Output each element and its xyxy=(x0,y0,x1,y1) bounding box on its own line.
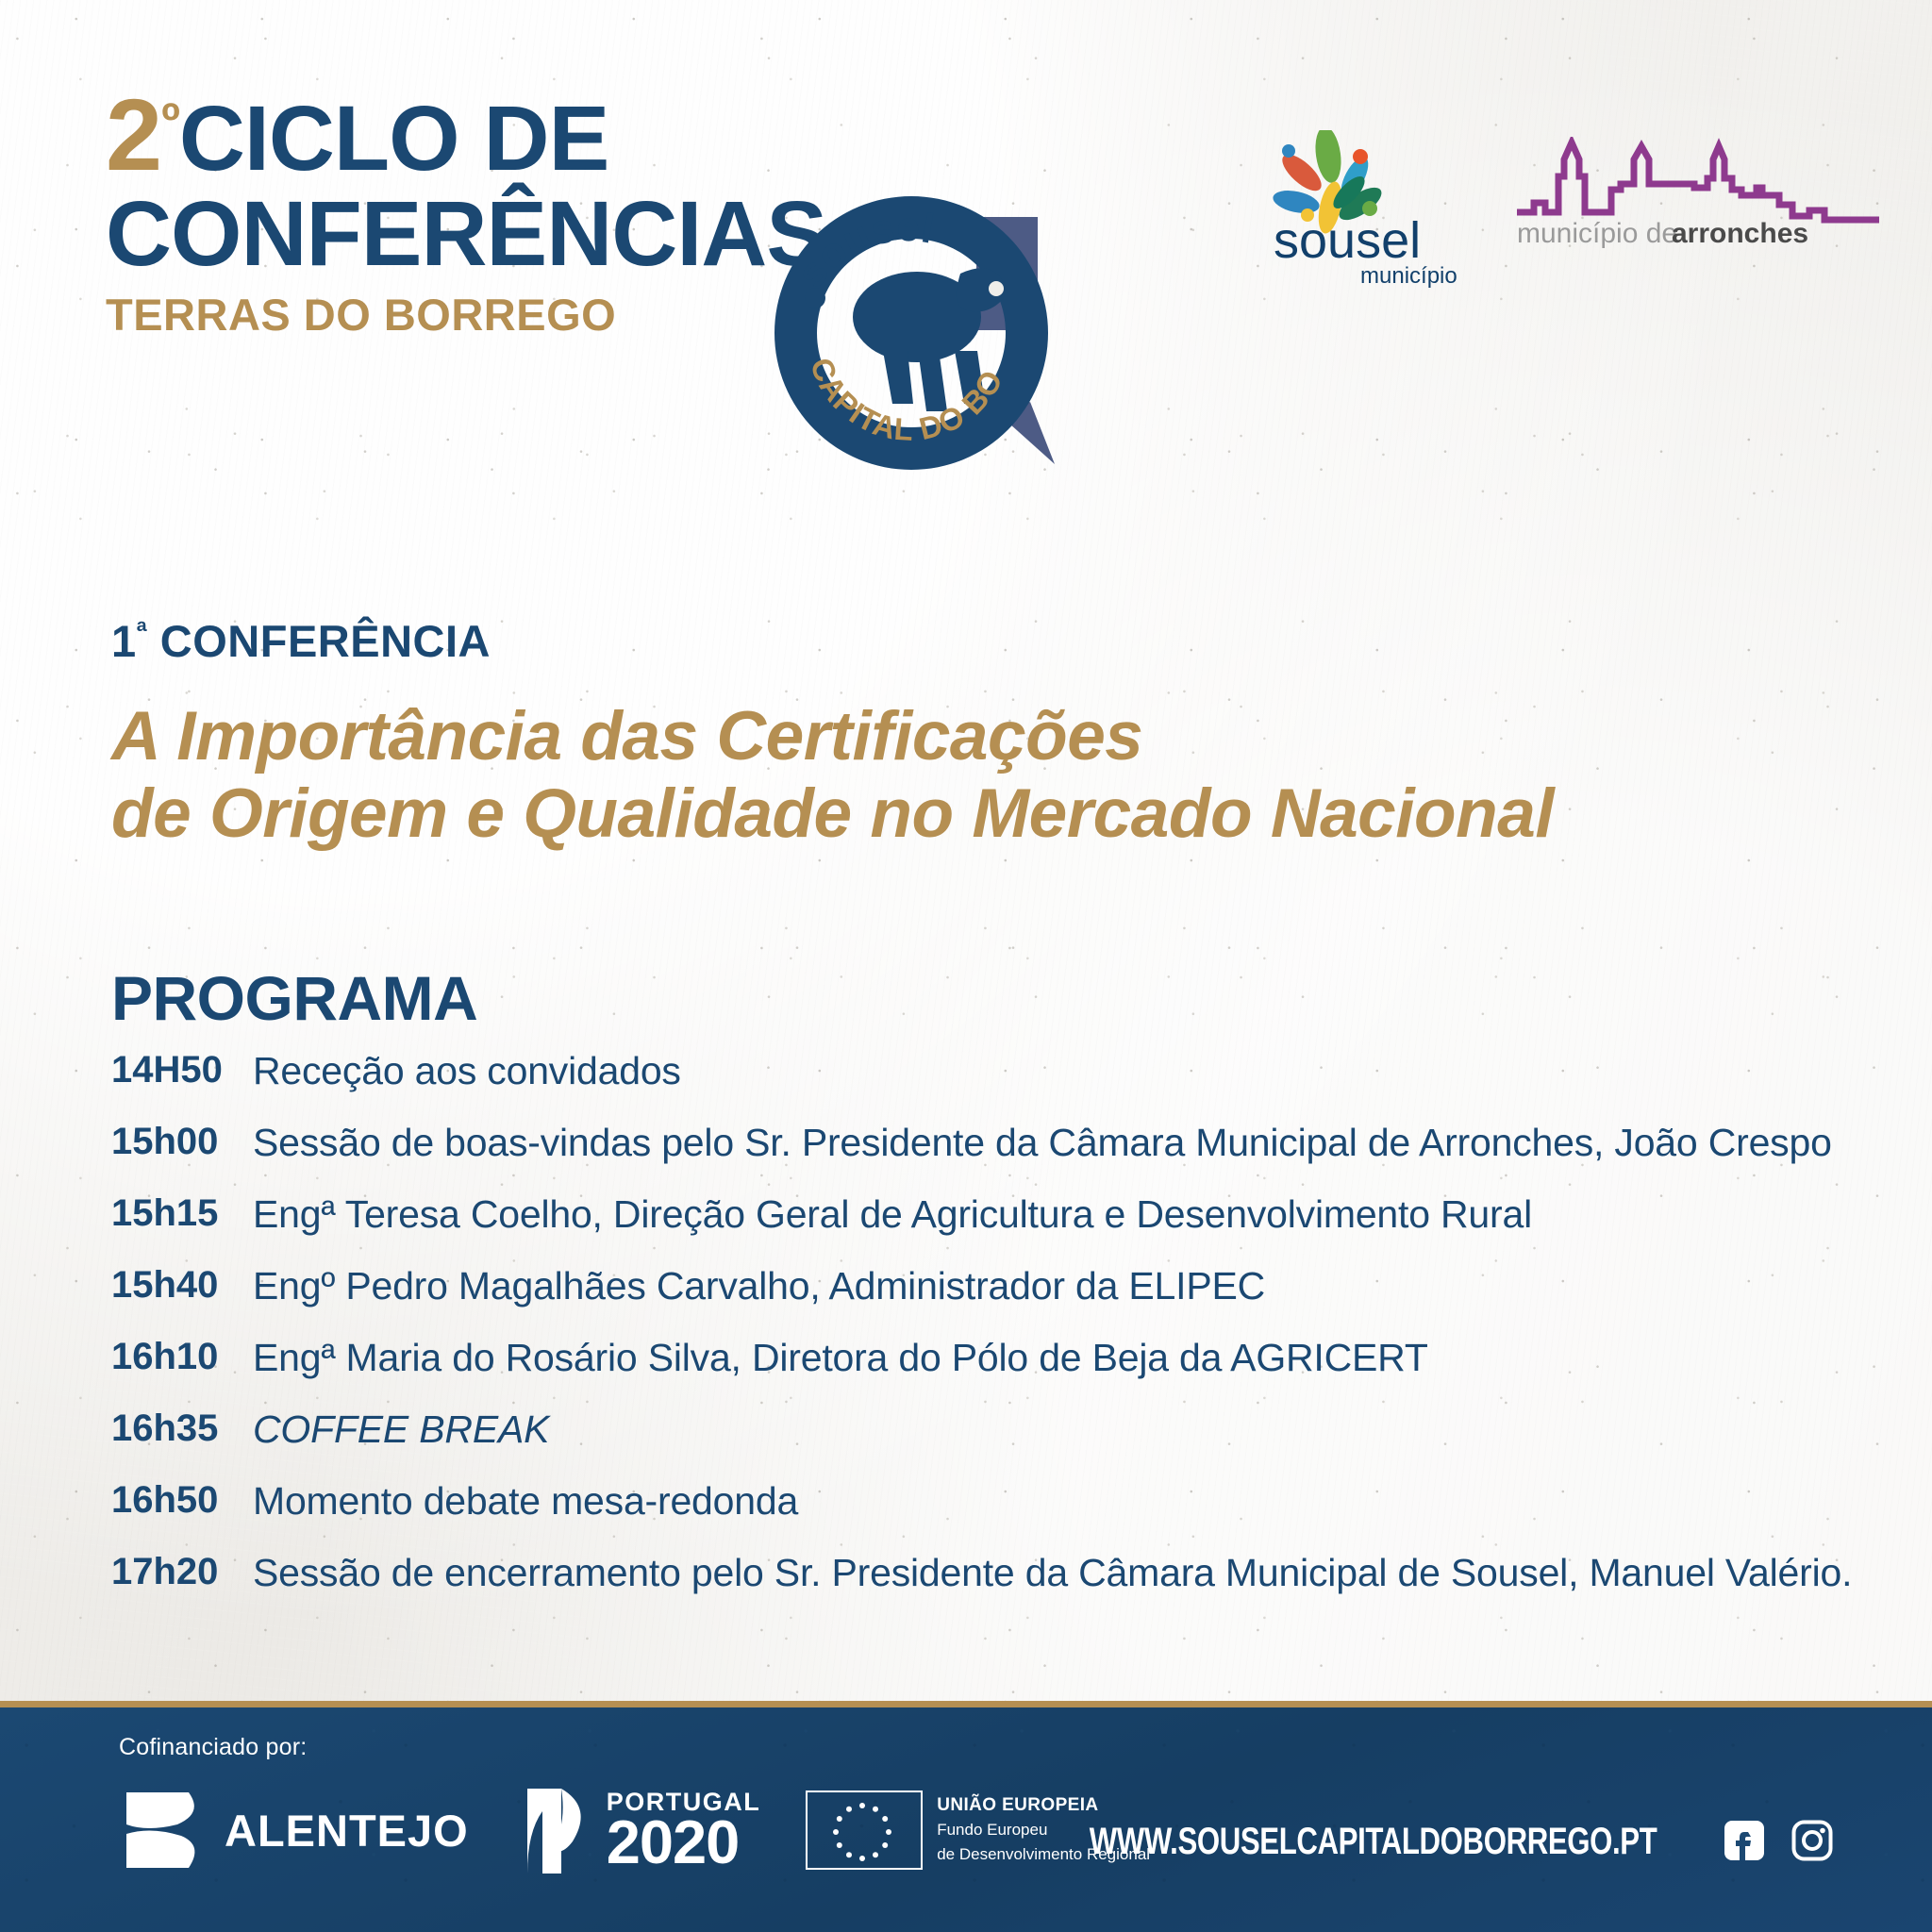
programme-description: Engº Pedro Magalhães Carvalho, Administr… xyxy=(253,1262,1265,1309)
poster-canvas: 2ºCICLO DE CONFERÊNCIAS TERRAS DO BORREG… xyxy=(0,0,1932,1932)
programme-row: 16h50 Momento debate mesa-redonda xyxy=(111,1477,1857,1524)
alentejo-label: ALENTEJO xyxy=(225,1805,469,1857)
programme-time: 15h00 xyxy=(111,1119,253,1163)
edition-ordinal: º xyxy=(161,93,179,150)
sousel-logo-name: sousel xyxy=(1274,212,1421,269)
social-links xyxy=(1723,1819,1834,1862)
programme-time: 17h20 xyxy=(111,1549,253,1593)
programme-description: Engª Maria do Rosário Silva, Diretora do… xyxy=(253,1334,1428,1381)
alentejo-logo: ALENTEJO xyxy=(119,1785,469,1875)
programme-row: 16h35 COFFEE BREAK xyxy=(111,1406,1857,1453)
programme-description: Receção aos convidados xyxy=(253,1047,681,1094)
conference-number: 1 xyxy=(111,616,137,666)
programme-description: Engª Teresa Coelho, Direção Geral de Agr… xyxy=(253,1191,1532,1238)
sousel-logo-sub: município xyxy=(1360,263,1457,289)
programme-heading: PROGRAMA xyxy=(111,962,477,1034)
arronches-skyline-icon xyxy=(1517,142,1879,220)
programme-row: 15h40 Engº Pedro Magalhães Carvalho, Adm… xyxy=(111,1262,1857,1309)
website-url[interactable]: WWW.SOUSELCAPITALDOBORREGO.PT xyxy=(1089,1821,1657,1863)
instagram-icon[interactable] xyxy=(1790,1819,1834,1862)
gold-divider xyxy=(0,1701,1932,1707)
programme-row: 14H50 Receção aos convidados xyxy=(111,1047,1857,1094)
facebook-icon[interactable] xyxy=(1723,1819,1766,1862)
programme-description: Sessão de encerramento pelo Sr. Presiden… xyxy=(253,1549,1852,1596)
eu-title: UNIÃO EUROPEIA xyxy=(937,1795,1150,1816)
programme-time: 14H50 xyxy=(111,1047,253,1091)
conference-number-label: 1ª CONFERÊNCIA xyxy=(111,615,491,667)
alentejo-mark-icon xyxy=(119,1785,209,1875)
portugal-2020-big: 2020 xyxy=(607,1814,761,1871)
programme-time: 16h10 xyxy=(111,1334,253,1378)
conference-ordinal: ª xyxy=(137,616,148,647)
programme-row: 15h15 Engª Teresa Coelho, Direção Geral … xyxy=(111,1191,1857,1238)
conference-title-line-1: A Importância das Certificações xyxy=(111,698,1847,775)
portugal-2020-mark-icon xyxy=(514,1783,597,1877)
programme-time: 15h40 xyxy=(111,1262,253,1307)
edition-number: 2 xyxy=(106,77,161,192)
title-line-1-text: CICLO DE xyxy=(179,87,608,190)
cofinanced-label: Cofinanciado por: xyxy=(119,1734,307,1761)
programme-list: 14H50 Receção aos convidados 15h00 Sessã… xyxy=(111,1047,1857,1621)
funding-logos: ALENTEJO PORTUGAL 2020 xyxy=(119,1783,1150,1877)
portugal-2020-logo: PORTUGAL 2020 xyxy=(514,1783,761,1877)
arronches-prefix: município de xyxy=(1517,218,1677,249)
eu-flag-icon xyxy=(806,1790,923,1870)
programme-time: 15h15 xyxy=(111,1191,253,1235)
programme-time: 16h50 xyxy=(111,1477,253,1522)
conference-word: CONFERÊNCIA xyxy=(147,616,491,666)
programme-description: Sessão de boas-vindas pelo Sr. President… xyxy=(253,1119,1832,1166)
conference-title-line-2: de Origem e Qualidade no Mercado Naciona… xyxy=(111,775,1847,853)
sousel-municipio-logo: sousel município xyxy=(1255,130,1481,291)
arronches-name: arronches xyxy=(1672,218,1808,249)
footer-band: Cofinanciado por: ALENTEJO PORTUGAL 2020 xyxy=(0,1707,1932,1932)
programme-description: Momento debate mesa-redonda xyxy=(253,1477,798,1524)
conference-title: A Importância das Certificações de Orige… xyxy=(111,698,1847,853)
sousel-capital-do-borrego-logo: sousel CAPITAL DO BORREGO xyxy=(717,132,1094,491)
programme-row: 15h00 Sessão de boas-vindas pelo Sr. Pre… xyxy=(111,1119,1857,1166)
programme-description: COFFEE BREAK xyxy=(253,1406,549,1453)
arronches-municipio-logo: município de arronches xyxy=(1509,137,1887,255)
programme-row: 16h10 Engª Maria do Rosário Silva, Diret… xyxy=(111,1334,1857,1381)
programme-time: 16h35 xyxy=(111,1406,253,1450)
programme-row: 17h20 Sessão de encerramento pelo Sr. Pr… xyxy=(111,1549,1857,1596)
